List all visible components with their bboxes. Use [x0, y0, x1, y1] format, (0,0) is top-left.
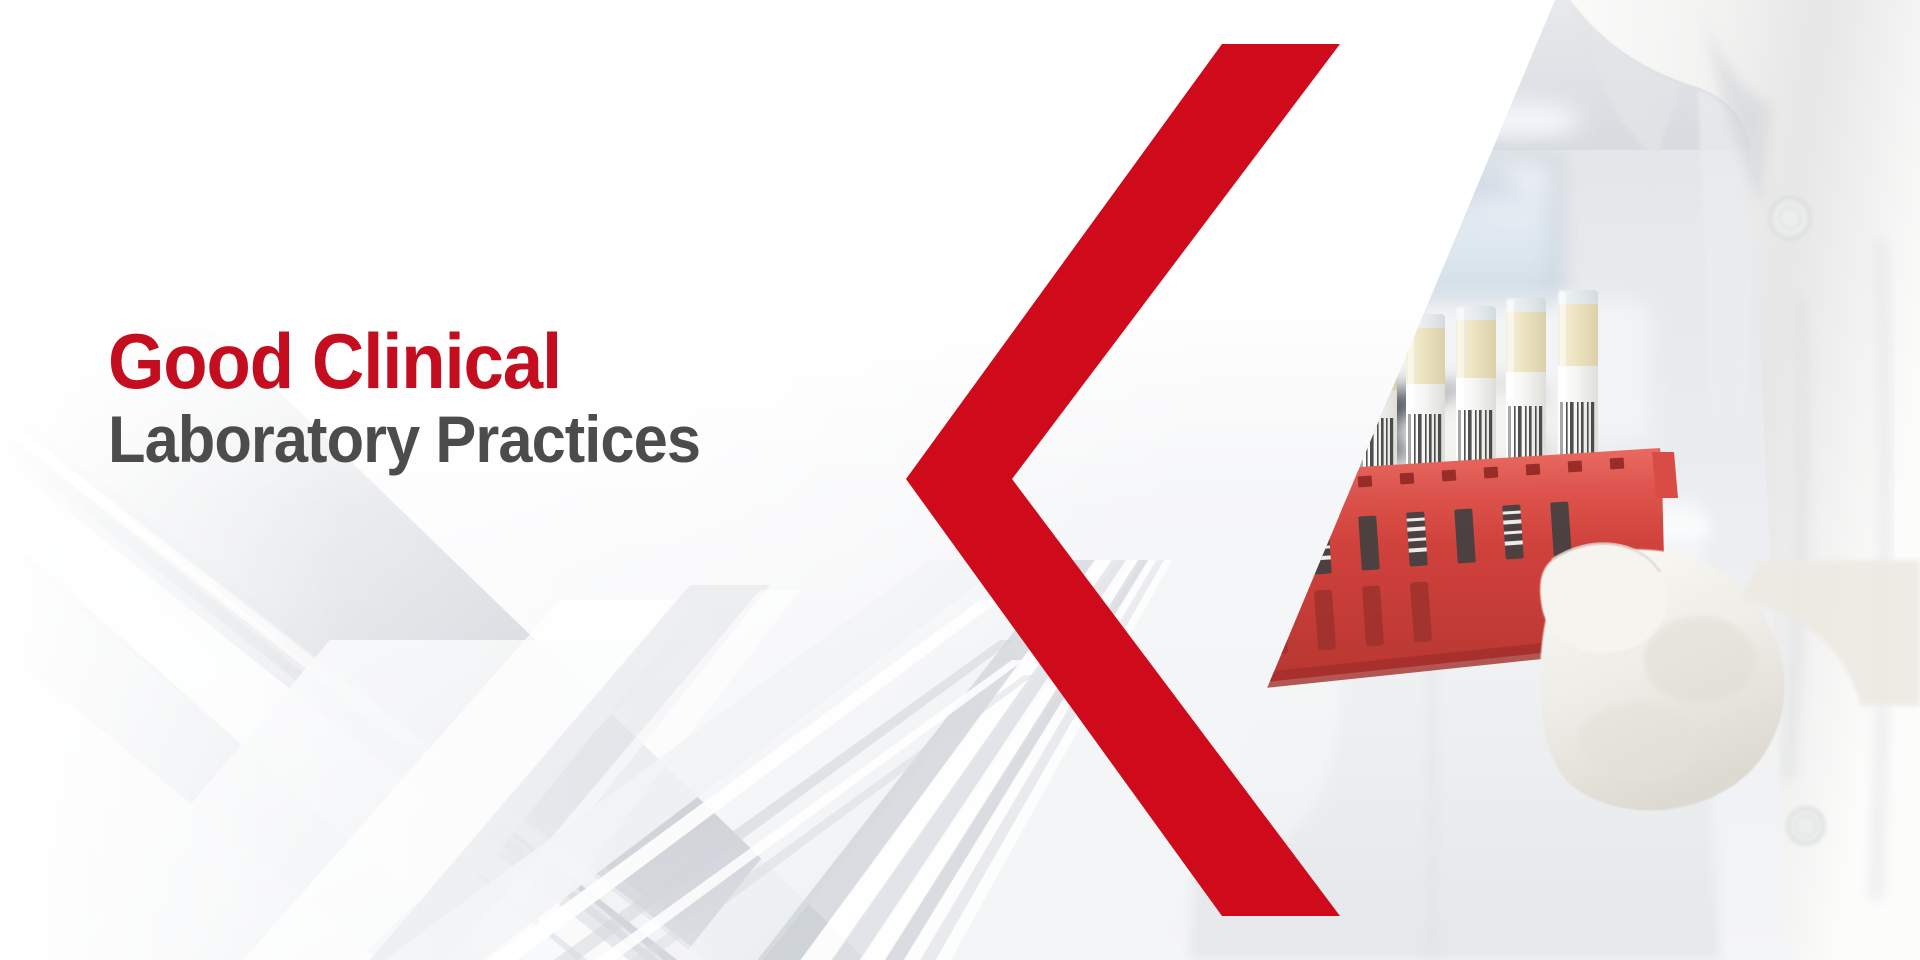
- headline-line-1: Good Clinical: [108, 322, 815, 400]
- banner-root: Good Clinical Laboratory Practices: [0, 0, 1920, 960]
- headline-block: Good Clinical Laboratory Practices: [108, 322, 868, 472]
- headline-line-2: Laboratory Practices: [108, 406, 815, 472]
